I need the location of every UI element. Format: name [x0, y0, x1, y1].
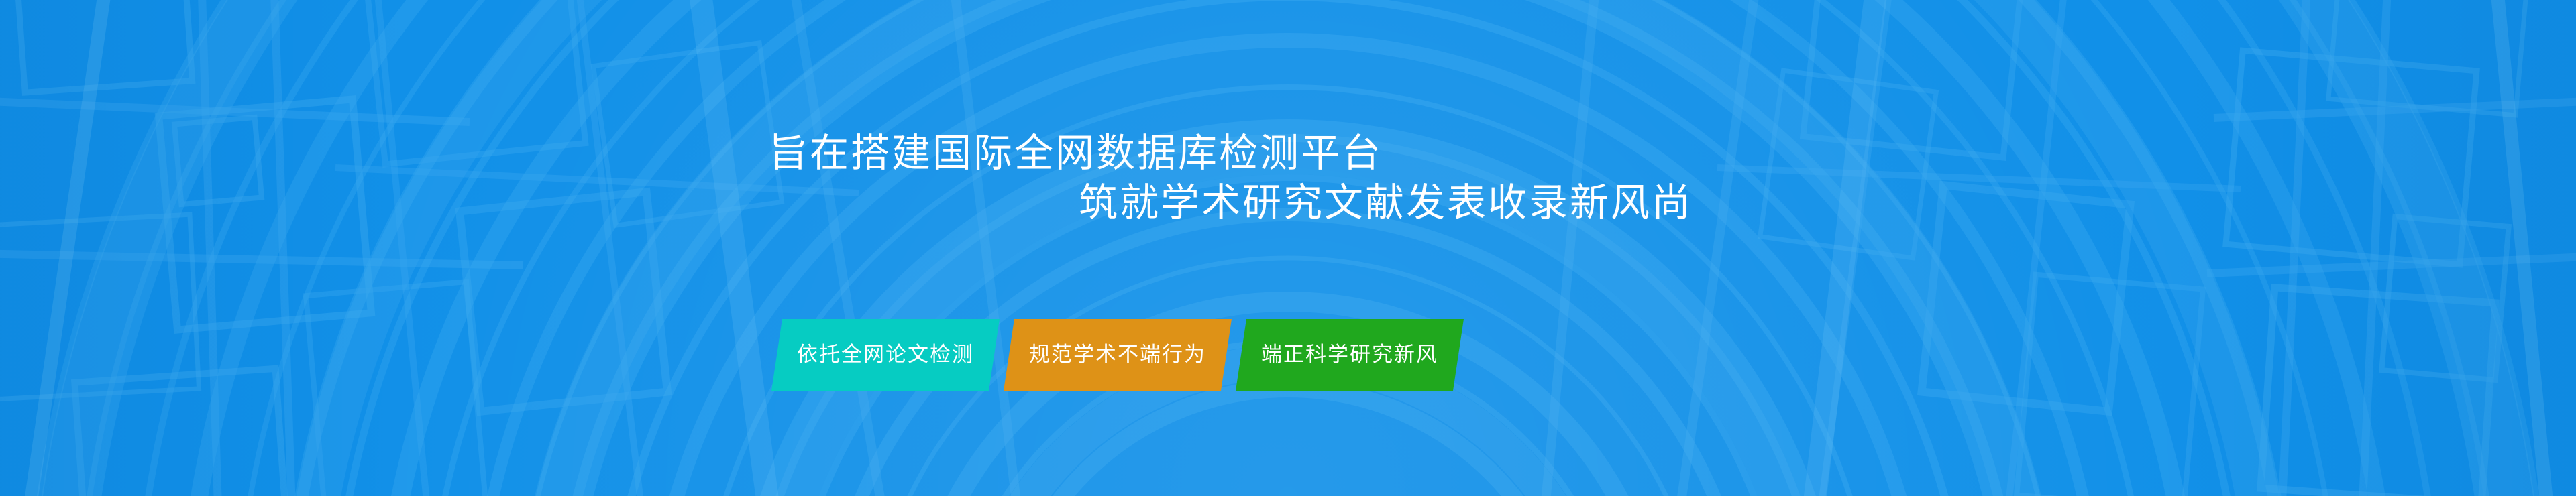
headline-line-2: 筑就学术研究文献发表收录新风尚	[0, 178, 2576, 228]
center-glow	[148, 0, 2428, 496]
feature-tag-band: 依托全网论文检测 规范学术不端行为 端正科学研究新风	[771, 319, 1464, 391]
headline: 旨在搭建国际全网数据库检测平台 筑就学术研究文献发表收录新风尚	[0, 129, 2576, 228]
tag-research-ethos-label: 端正科学研究新风	[1261, 344, 1438, 366]
edge-vignette	[0, 0, 2576, 496]
headline-line-1: 旨在搭建国际全网数据库检测平台	[0, 129, 2576, 178]
tag-academic-misconduct-label: 规范学术不端行为	[1029, 344, 1206, 366]
tag-research-ethos[interactable]: 端正科学研究新风	[1236, 319, 1464, 391]
background-pattern	[0, 0, 2576, 496]
tag-paper-detection-label: 依托全网论文检测	[797, 344, 974, 366]
promo-banner: 旨在搭建国际全网数据库检测平台 筑就学术研究文献发表收录新风尚 依托全网论文检测…	[0, 0, 2576, 496]
tag-academic-misconduct[interactable]: 规范学术不端行为	[1004, 319, 1232, 391]
tag-paper-detection[interactable]: 依托全网论文检测	[771, 319, 1000, 391]
